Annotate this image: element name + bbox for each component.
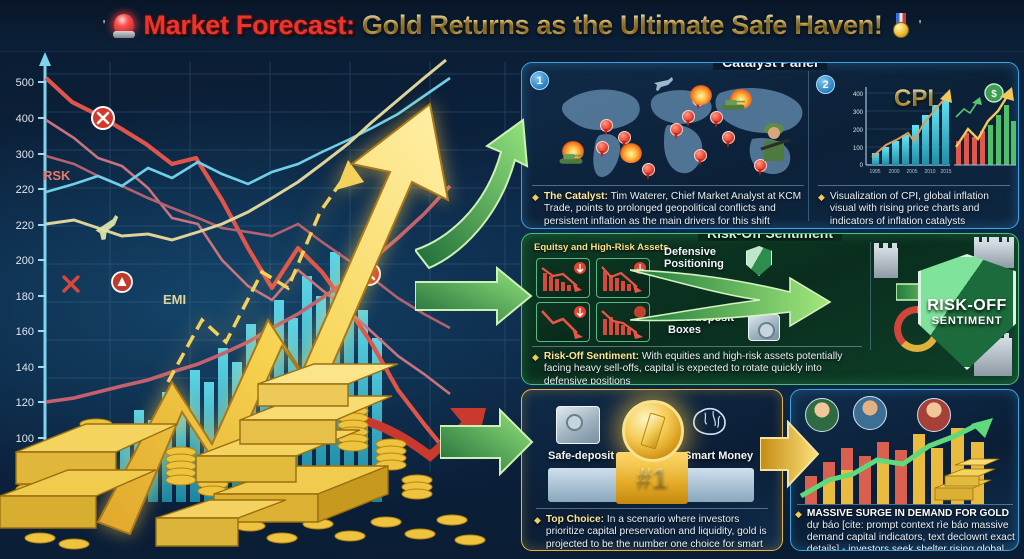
castle-icon [874,248,898,278]
arrow-topchoice-to-surge [760,420,820,500]
panel-title-risk-off: Risk-Off Sentiment [698,233,842,241]
smart-money-label: Smart Money [684,450,753,462]
bullet-risk-off: ◆ Risk-Off Sentiment: With equities and … [532,351,864,385]
panel-catalyst: 1 [521,62,1019,229]
panel-divider [797,504,1013,505]
inflation-chart: $ [954,81,1016,181]
cpi-x-tick: 1995 [869,169,880,175]
conflict-pin [694,149,707,166]
arrow-risk-to-shield [630,256,866,348]
panel-divider [532,346,862,347]
bullet-lead: The Catalyst: [544,191,608,202]
conflict-pin [710,111,723,128]
tank-icon [558,151,584,165]
safe-deposit-icon [556,406,600,444]
conflict-pin [670,123,683,140]
y-tick-label: 160 [16,326,34,338]
gold-coin-icon [622,400,684,462]
cpi-y-tick: 0 [860,163,864,169]
x-marker-red [64,277,78,291]
bullet-top-choice: ◆ Top Choice: In a scenario where invest… [534,514,774,551]
bullet-diamond-icon: ◆ [818,191,825,228]
shield-line-2: SENTIMENT [932,315,1003,327]
conflict-pin [600,119,613,136]
cpi-y-tick: 100 [853,146,864,152]
cpi-x-tick: 2015 [940,169,951,175]
arrow-chart-to-catalyst [415,120,527,268]
cpi-y-tick: 200 [853,128,864,134]
chart-annotation-emi: EMI [163,292,186,307]
title-gold-part: Gold Returns as the Ultimate Safe Haven! [362,10,883,40]
explosion-icon [620,143,642,163]
jet-icon [654,77,674,91]
infographic-canvas: ' Market Forecast: Gold Returns as the U… [0,0,1024,559]
panel-surge: ◆ MASSIVE SURGE IN DEMAND FOR GOLD dự bá… [790,389,1019,551]
bullet-lead: Risk-Off Sentiment: [544,351,639,362]
bullet-line-1: dự báo [807,520,839,531]
panel-divider [532,185,804,186]
y-tick-label: 120 [16,397,34,409]
panel-title-catalyst: Catalyst Panel [713,62,827,70]
title-red-part: Market Forecast: [143,10,354,40]
y-tick-label: 220 [16,184,34,196]
cpi-x-tick: 2010 [924,169,935,175]
safe-deposit-label: Safe-deposit [548,450,614,462]
cpi-x-tick: 2000 [888,169,899,175]
y-tick-label: 500 [16,77,34,89]
y-tick-label: 400 [16,113,34,125]
connector-arrows-group [415,90,535,350]
siren-icon [113,14,135,38]
x-marker-red [92,107,114,129]
bullet-surge: ◆ MASSIVE SURGE IN DEMAND FOR GOLD dự bá… [795,508,1017,551]
bullet-diamond-icon: ◆ [795,508,802,551]
shield-line-1: RISK-OFF [927,297,1007,315]
panel-risk-off: Equitsy and High-Risk Assets [521,233,1019,385]
dollar-badge: $ [991,89,997,100]
cpi-y-tick: 400 [853,92,864,98]
podium-right [682,468,754,502]
bullet-lead: Top Choice: [546,514,604,525]
bullet-catalyst: ◆ The Catalyst: Tim Waterer, Chief Marke… [532,191,804,228]
down-chart-icon [536,258,590,298]
y-tick-label: 200 [16,255,34,267]
conflict-pin [682,110,695,127]
panel-divider [808,71,809,221]
bullet-cpi: ◆ Visualization of CPI, global inflation… [818,191,1012,228]
page-title: Market Forecast: Gold Returns as the Ult… [143,10,882,41]
badge-1: 1 [530,71,549,90]
panel-divider [818,185,1010,186]
y-tick-label: 220 [16,220,34,232]
brain-icon [690,404,730,438]
tank-icon [720,97,746,111]
equities-label: Equitsy and High-Risk Assets [534,242,668,253]
y-tick-label: 100 [16,433,34,445]
arrow-chart-to-topchoice [440,400,535,490]
y-tick-label: 300 [16,149,34,161]
surge-chart [795,418,1017,504]
conflict-pin [596,141,609,158]
quote-close: ' [919,17,922,34]
bullet-body: Visualization of CPI, global inflation v… [830,191,1012,228]
explosion-icon [690,85,712,105]
medal-icon [891,13,911,39]
arrow-chart-to-risk [415,268,531,324]
cpi-y-tick: 300 [853,110,864,116]
down-chart-icon [536,302,590,342]
panel-divider [536,508,768,509]
panel-top-choice: Safe-deposit Smart Money #1 ◆ Top Choice… [521,389,783,551]
bullet-diamond-icon: ◆ [534,514,541,551]
cpi-label: CPI [894,85,934,113]
castle-icon [994,242,1014,268]
warning-marker [112,272,132,292]
bullet-lead: MASSIVE SURGE IN DEMAND FOR GOLD [807,508,1009,519]
badge-2: 2 [816,75,835,94]
chart-annotation-rsk: RSK [43,168,71,183]
quote-open: ' [103,17,106,34]
rank-label: #1 [636,462,667,494]
podium-left [548,468,620,502]
panel-divider [870,242,871,350]
soldier-icon [758,119,792,167]
conflict-pin [722,131,735,148]
gold-bar-glyph [640,412,665,449]
conflict-pin [642,163,655,180]
cpi-x-tick: 2005 [906,169,917,175]
y-tick-label: 140 [16,362,34,374]
page-title-bar: ' Market Forecast: Gold Returns as the U… [0,0,1024,52]
bullet-diamond-icon: ◆ [532,351,539,385]
y-tick-label: 180 [16,291,34,303]
